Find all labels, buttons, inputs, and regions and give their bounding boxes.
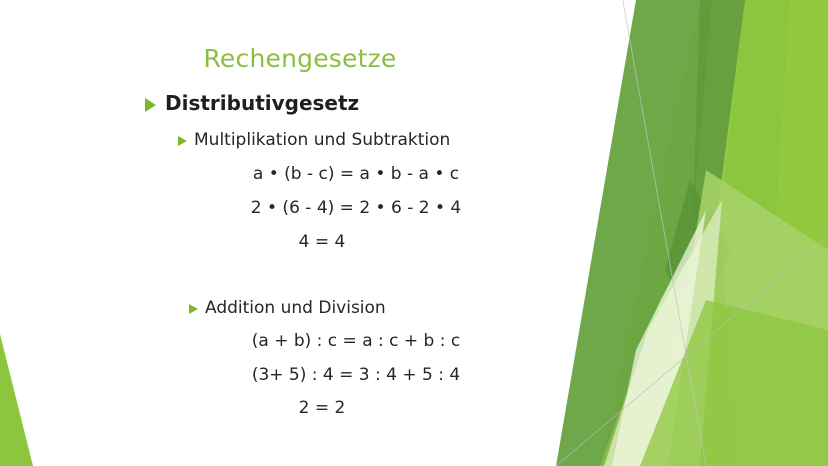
- presentation-slide: Rechengesetze Distributivgesetz Multipli…: [0, 0, 828, 466]
- formula-line: 4 = 4: [0, 232, 622, 252]
- deco-bright-right-column-2: [760, 0, 828, 466]
- formula-line: (3+ 5) : 4 = 3 : 4 + 5 : 4: [0, 365, 656, 385]
- bullet-level1-label: Distributivgesetz: [165, 91, 359, 115]
- triangle-bullet-icon: [178, 136, 187, 146]
- bullet-level2-multiplikation: Multiplikation und Subtraktion: [178, 130, 450, 150]
- deco-mid-bright-band: [600, 0, 760, 466]
- bullet-level2-label: Multiplikation und Subtraktion: [194, 130, 450, 150]
- deco-lower-bright: [640, 300, 828, 466]
- deco-light-sheet-1: [658, 170, 828, 466]
- deco-dark-overlap-wedge: [690, 0, 745, 300]
- bullet-level2-addition: Addition und Division: [189, 298, 386, 318]
- triangle-bullet-icon: [145, 98, 156, 112]
- deco-hairline-top: [622, 0, 706, 466]
- deco-pale-fan: [640, 0, 828, 466]
- formula-line: 2 • (6 - 4) = 2 • 6 - 2 • 4: [0, 198, 656, 218]
- deco-bright-right-column: [690, 0, 828, 466]
- formula-line: 2 = 2: [0, 398, 622, 418]
- bullet-level2-label: Addition und Division: [205, 298, 386, 318]
- slide-title: Rechengesetze: [0, 44, 600, 73]
- slide-content: Rechengesetze Distributivgesetz Multipli…: [0, 0, 600, 466]
- deco-dark-overlap-wedge-2: [665, 180, 730, 330]
- formula-line: (a + b) : c = a : c + b : c: [0, 331, 656, 351]
- deco-pale-fan-2: [600, 0, 828, 466]
- triangle-bullet-icon: [189, 304, 198, 314]
- bullet-level1-distributivgesetz: Distributivgesetz: [145, 91, 359, 115]
- formula-line: a • (b - c) = a • b - a • c: [0, 164, 656, 184]
